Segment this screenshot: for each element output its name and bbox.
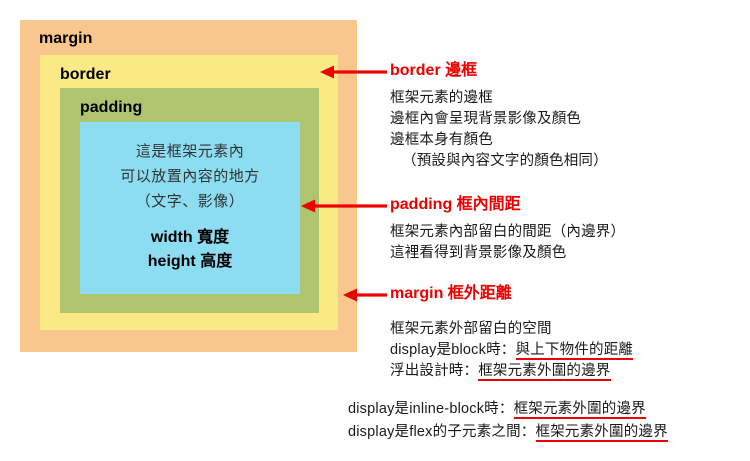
diagram-canvas: margin border padding 這是框架元素內 可以放置內容的地方 … [0, 0, 750, 461]
annotation-border-title: border 邊框 [390, 62, 608, 80]
annotation-line-prefix: display是block時： [390, 342, 516, 358]
annotation-margin-title: margin 框外距離 [390, 285, 633, 303]
annotation-line: 邊框本身有顏色 [390, 130, 608, 151]
annotation-line-underlined: 框架元素外圍的邊界 [478, 363, 610, 381]
footer-notes: display是inline-block時：框架元素外圍的邊界 display是… [348, 398, 668, 444]
annotation-padding-title: padding 框內間距 [390, 196, 625, 214]
content-box: 這是框架元素內 可以放置內容的地方 （文字、影像） width 寬度 heigh… [80, 122, 300, 294]
annotation-line: 框架元素外部留白的空間 [390, 319, 633, 340]
footer-line-prefix: display是inline-block時： [348, 401, 514, 417]
annotation-margin: margin 框外距離 框架元素外部留白的空間 display是block時：與… [390, 285, 633, 382]
padding-box-label: padding [80, 100, 142, 116]
margin-box: margin border padding 這是框架元素內 可以放置內容的地方 … [20, 20, 357, 352]
footer-line-underlined: 框架元素外圍的邊界 [536, 424, 668, 442]
annotation-border: border 邊框 框架元素的邊框 邊框內會呈現背景影像及顏色 邊框本身有顏色 … [390, 62, 608, 172]
footer-line: display是flex的子元素之間：框架元素外圍的邊界 [348, 421, 668, 444]
annotation-line: display是block時：與上下物件的距離 [390, 340, 633, 361]
content-line: 這是框架元素內 [80, 139, 300, 164]
annotation-padding: padding 框內間距 框架元素內部留白的間距（內邊界） 這裡看得到背景影像及… [390, 196, 625, 264]
arrow-left-icon-margin [343, 286, 387, 304]
annotation-line-underlined: 與上下物件的距離 [516, 342, 634, 360]
annotation-line: 框架元素的邊框 [390, 88, 608, 109]
annotation-line: 這裡看得到背景影像及顏色 [390, 243, 625, 264]
annotation-padding-body: 框架元素內部留白的間距（內邊界） 這裡看得到背景影像及顏色 [390, 222, 625, 264]
arrow-left-icon-padding [301, 197, 387, 215]
border-box-label: border [60, 67, 111, 83]
content-box-description: 這是框架元素內 可以放置內容的地方 （文字、影像） [80, 139, 300, 214]
annotation-line: 浮出設計時：框架元素外圍的邊界 [390, 361, 633, 382]
annotation-line-prefix: 浮出設計時： [390, 363, 478, 379]
width-label: width 寬度 [80, 226, 300, 250]
annotation-line: 邊框內會呈現背景影像及顏色 [390, 109, 608, 130]
annotation-border-body: 框架元素的邊框 邊框內會呈現背景影像及顏色 邊框本身有顏色 （預設與內容文字的顏… [390, 88, 608, 172]
height-label: height 高度 [80, 250, 300, 274]
content-line: （文字、影像） [80, 189, 300, 214]
footer-line-prefix: display是flex的子元素之間： [348, 424, 536, 440]
annotation-line: （預設與內容文字的顏色相同） [390, 151, 608, 172]
border-box: border padding 這是框架元素內 可以放置內容的地方 （文字、影像）… [40, 55, 338, 330]
footer-line-underlined: 框架元素外圍的邊界 [514, 401, 646, 419]
margin-box-label: margin [39, 31, 92, 47]
content-box-dimensions: width 寬度 height 高度 [80, 226, 300, 274]
padding-box: padding 這是框架元素內 可以放置內容的地方 （文字、影像） width … [60, 88, 319, 313]
arrow-left-icon-border [320, 63, 387, 81]
content-line: 可以放置內容的地方 [80, 164, 300, 189]
footer-line: display是inline-block時：框架元素外圍的邊界 [348, 398, 668, 421]
annotation-margin-body: 框架元素外部留白的空間 display是block時：與上下物件的距離 浮出設計… [390, 319, 633, 382]
annotation-line: 框架元素內部留白的間距（內邊界） [390, 222, 625, 243]
